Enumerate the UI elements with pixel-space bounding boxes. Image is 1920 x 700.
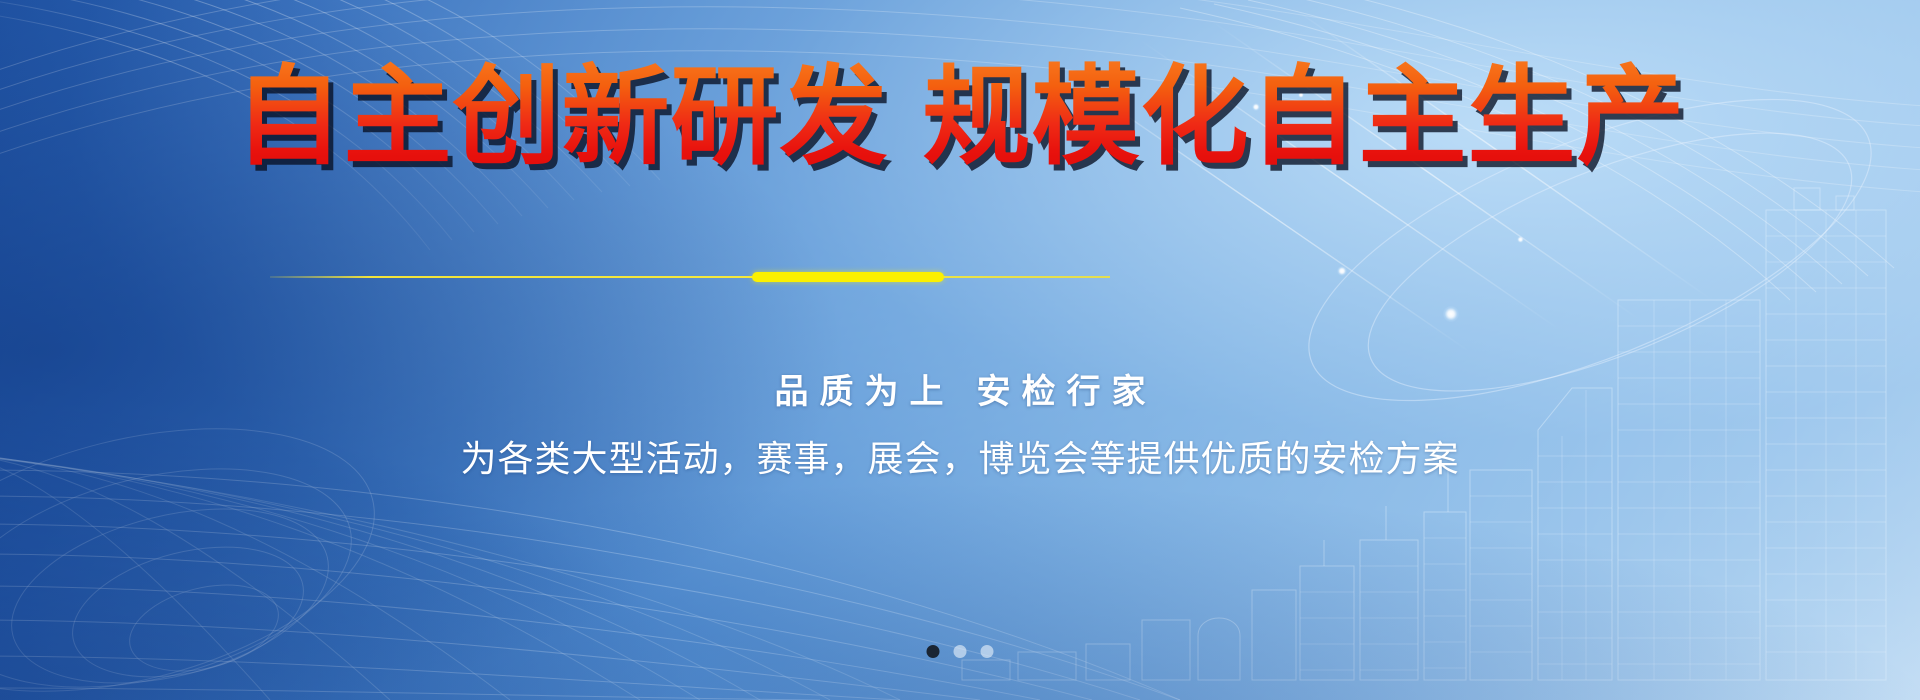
divider-highlight-bar <box>752 272 944 282</box>
carousel-dots[interactable] <box>927 645 994 658</box>
carousel-dot-3[interactable] <box>981 645 994 658</box>
divider-hairline <box>270 276 1110 278</box>
banner-headline: 自主创新研发规模化自主生产 <box>234 60 1685 177</box>
subtitle-primary-right: 安检行家 <box>977 372 1157 412</box>
hero-banner: 自主创新研发规模化自主生产 品质为上安检行家 为各类大型活动，赛事，展会，博览会… <box>0 0 1920 700</box>
subtitle-secondary: 为各类大型活动，赛事，展会，博览会等提供优质的安检方案 <box>0 430 1920 482</box>
divider <box>270 272 1110 282</box>
headline-part-1: 自主创新研发 <box>234 55 888 180</box>
banner-content: 自主创新研发规模化自主生产 品质为上安检行家 为各类大型活动，赛事，展会，博览会… <box>0 0 1920 700</box>
subtitle-primary: 品质为上安检行家 <box>0 364 1920 413</box>
headline-part-2: 规模化自主生产 <box>923 55 1686 180</box>
carousel-dot-2[interactable] <box>954 645 967 658</box>
carousel-dot-1[interactable] <box>927 645 940 658</box>
subtitle-primary-left: 品质为上 <box>775 372 955 412</box>
